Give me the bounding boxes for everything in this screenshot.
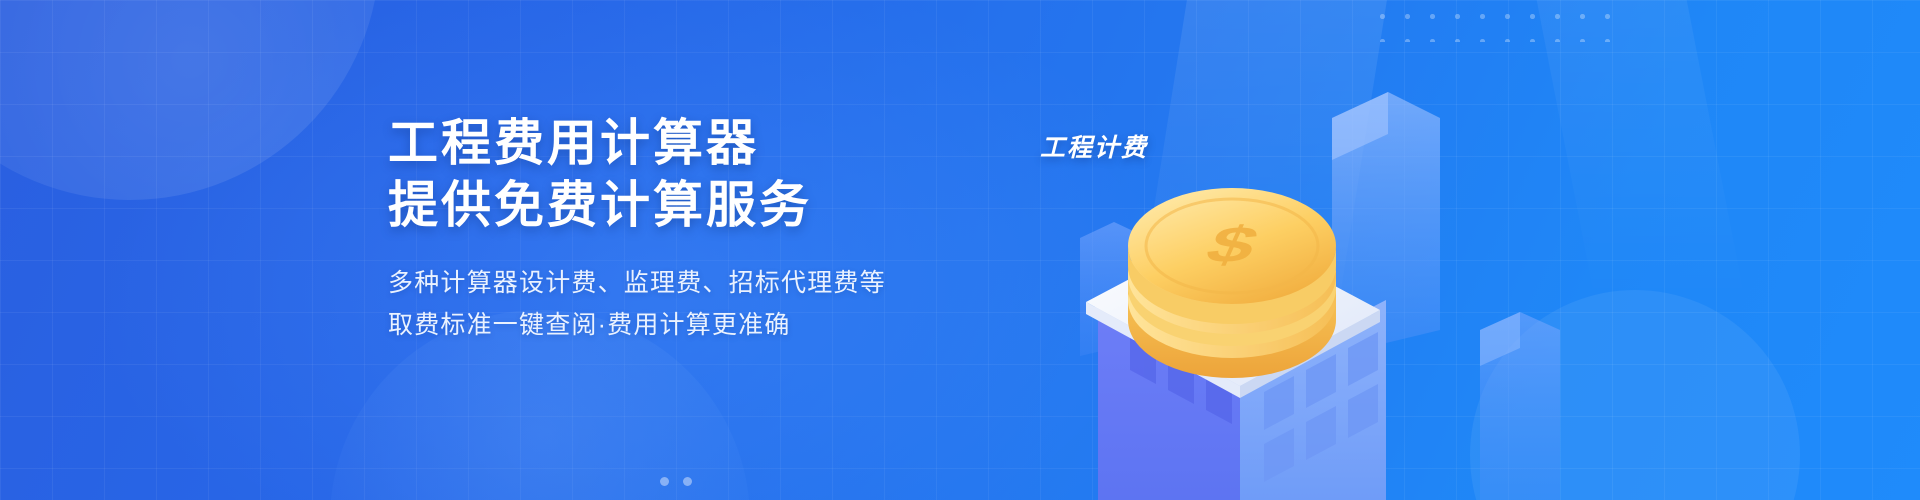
banner-title-line-2: 提供免费计算服务	[388, 174, 886, 236]
carousel-indicators[interactable]	[660, 477, 692, 486]
isometric-city-coin-illustration: $	[880, 0, 1600, 500]
banner-title-line-1: 工程费用计算器	[388, 112, 886, 174]
illustration-badge-label: 工程计费	[1040, 128, 1148, 164]
carousel-dot-1[interactable]	[660, 477, 669, 486]
carousel-dot-2[interactable]	[683, 477, 692, 486]
decorative-circle-top-left	[0, 0, 380, 200]
gold-coin: $	[1128, 188, 1336, 378]
banner-illustration: $ 工程计费	[880, 0, 1600, 500]
banner-subtitle: 多种计算器设计费、监理费、招标代理费等 取费标准一键查阅·费用计算更准确	[388, 262, 886, 346]
banner-subtitle-line-1: 多种计算器设计费、监理费、招标代理费等	[388, 262, 886, 304]
hero-banner: 工程费用计算器 提供免费计算服务 多种计算器设计费、监理费、招标代理费等 取费标…	[0, 0, 1920, 500]
banner-copy: 工程费用计算器 提供免费计算服务 多种计算器设计费、监理费、招标代理费等 取费标…	[388, 112, 886, 346]
banner-subtitle-line-2: 取费标准一键查阅·费用计算更准确	[388, 304, 886, 346]
